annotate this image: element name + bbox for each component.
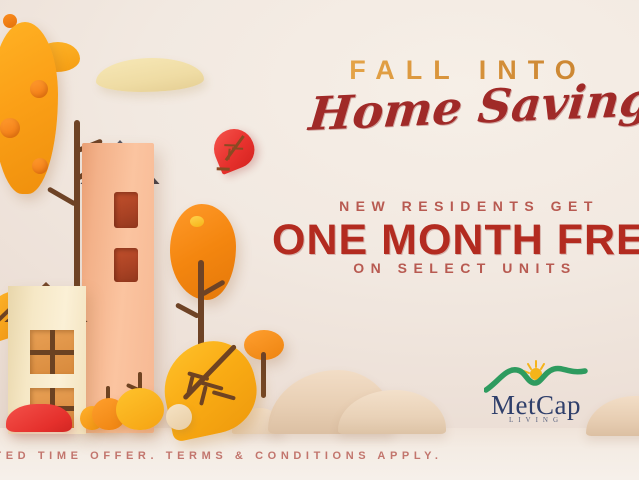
tall-house-window-upper xyxy=(114,192,138,228)
cream-house-window-upper xyxy=(30,330,74,374)
offer-subline: ON SELECT UNITS xyxy=(330,260,600,276)
tall-house-window-lower xyxy=(114,248,138,282)
leaf-stem xyxy=(217,167,230,170)
leaf-vein xyxy=(224,144,235,146)
red-blanket xyxy=(6,404,72,432)
metcap-tagline: LIVING xyxy=(476,416,596,424)
fall-promo-banner: FALL INTO Home Savings! NEW RESIDENTS GE… xyxy=(0,0,639,480)
red-leaf xyxy=(208,123,260,175)
fruit-dot xyxy=(30,80,48,98)
leaf-vein xyxy=(232,147,243,149)
yellow-fruit-dot xyxy=(190,216,204,227)
cream-cloud xyxy=(96,58,204,92)
blob-tree-branch xyxy=(175,302,200,319)
disclaimer-text: LIMITED TIME OFFER. TERMS & CONDITIONS A… xyxy=(0,450,474,462)
cream-gourd xyxy=(166,404,192,430)
offer-headline: ONE MONTH FREE xyxy=(272,216,639,265)
leaf-vein xyxy=(199,385,208,405)
metcap-logo[interactable]: MetCap LIVING xyxy=(476,360,596,436)
pumpkin-large xyxy=(116,388,164,430)
eyebrow-new-residents: NEW RESIDENTS GET xyxy=(330,198,608,214)
orange-oval-tree-canopy xyxy=(0,22,58,194)
bare-tree-branch xyxy=(47,186,77,206)
leaf-vein xyxy=(212,390,236,400)
autumn-diorama xyxy=(0,0,290,480)
small-tree-trunk xyxy=(261,352,266,398)
metcap-mountain-sun-icon xyxy=(484,360,588,394)
fruit-dot xyxy=(0,118,20,138)
fruit-dot xyxy=(32,158,48,174)
